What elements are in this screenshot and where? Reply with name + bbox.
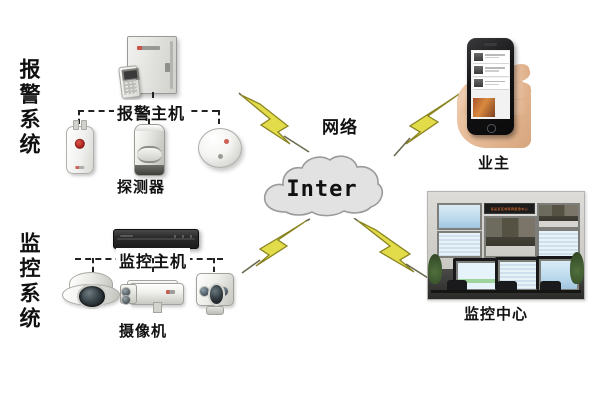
camera-label: 摄像机 [119, 320, 167, 341]
lightning-bolt-icon [352, 218, 430, 280]
cloud-text: Inter [258, 150, 386, 224]
chair [540, 281, 560, 291]
lightning-bolt-icon [240, 218, 312, 276]
panic-button-remote-icon[interactable] [66, 126, 94, 174]
connector-drop-dome-camera [92, 258, 94, 272]
connector-drop-pir-detector [148, 110, 150, 124]
bullet-camera-icon[interactable] [120, 274, 182, 314]
wall-banner-text: 某某某区域联网报警中心 [491, 207, 528, 211]
network-cloud-node[interactable]: Inter [258, 150, 386, 224]
connector-drop-smoke-detector [218, 110, 220, 124]
dvr-nvr-icon[interactable] [113, 229, 199, 249]
control-center-node[interactable]: 某某某区域联网报警中心 [427, 191, 585, 300]
cube-ip-camera-icon[interactable] [194, 271, 234, 315]
plant [428, 254, 442, 284]
section-label-alarm-system: 报警系统 [16, 58, 41, 158]
link-monitor-to-network [240, 218, 312, 281]
alarm-keypad-icon [118, 65, 141, 99]
dome-camera-icon[interactable] [62, 272, 118, 316]
connector-drop-bullet-camera [152, 258, 154, 272]
wall-screen [437, 203, 482, 231]
owner-node[interactable] [452, 36, 538, 148]
chair [447, 280, 467, 291]
wall-screen [537, 203, 580, 229]
link-alarm-to-network [238, 92, 312, 159]
diagram-canvas: 报警系统 监控系统 报警主机 探测 [0, 0, 600, 400]
pir-motion-detector-icon[interactable] [134, 124, 165, 176]
detector-label: 探测器 [117, 176, 165, 197]
wall-banner: 某某某区域联网报警中心 [484, 203, 534, 215]
lightning-bolt-icon [238, 92, 312, 154]
link-network-to-control-center [352, 218, 430, 285]
phone-screen [471, 50, 510, 119]
desk-edge [431, 290, 581, 293]
smoke-detector-icon[interactable] [198, 128, 242, 168]
network-label: 网络 [322, 113, 358, 138]
control-center-label: 监控中心 [464, 303, 528, 324]
chair [497, 281, 517, 291]
owner-label: 业主 [478, 152, 510, 173]
wall-screen-mosaic [484, 216, 536, 259]
alarm-host-label: 报警主机 [114, 100, 188, 124]
connector-drop-cube-camera [213, 258, 215, 272]
plant [570, 252, 584, 284]
wall-screen [437, 231, 482, 259]
section-label-monitoring-system: 监控系统 [16, 232, 41, 332]
smartphone-icon[interactable] [467, 38, 513, 134]
